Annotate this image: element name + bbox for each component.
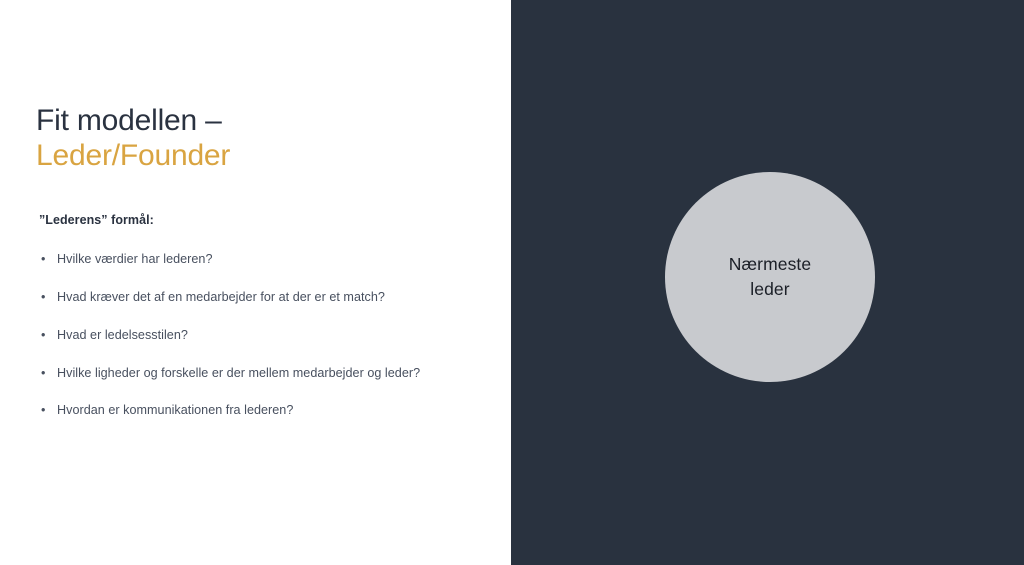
bullet-dot-icon: • — [41, 365, 45, 381]
diagram-circle-label: Nærmeste leder — [729, 252, 811, 303]
bullet-list: • Hvilke værdier har lederen? • Hvad kræ… — [39, 251, 489, 419]
bullet-dot-icon: • — [41, 251, 45, 267]
list-item-label: Hvad er ledelsesstilen? — [57, 328, 188, 342]
list-item: • Hvilke værdier har lederen? — [39, 251, 489, 267]
left-content-panel: Fit modellen – Leder/Founder ”Lederens” … — [0, 0, 511, 565]
list-item: • Hvad kræver det af en medarbejder for … — [39, 289, 489, 305]
bullet-dot-icon: • — [41, 289, 45, 305]
list-item: • Hvad er ledelsesstilen? — [39, 327, 489, 343]
list-item-label: Hvad kræver det af en medarbejder for at… — [57, 290, 385, 304]
section-subheading: ”Lederens” formål: — [39, 213, 489, 227]
title-line-accent: Leder/Founder — [36, 139, 230, 174]
page-title: Fit modellen – Leder/Founder — [36, 104, 230, 174]
slide: Fit modellen – Leder/Founder ”Lederens” … — [0, 0, 1024, 565]
list-item-label: Hvilke ligheder og forskelle er der mell… — [57, 366, 420, 380]
body-content: ”Lederens” formål: • Hvilke værdier har … — [39, 213, 489, 419]
right-diagram-panel: Nærmeste leder — [511, 0, 1024, 565]
bullet-dot-icon: • — [41, 327, 45, 343]
title-line-primary: Fit modellen – — [36, 104, 230, 139]
bullet-dot-icon: • — [41, 402, 45, 418]
list-item: • Hvordan er kommunikationen fra lederen… — [39, 402, 489, 418]
list-item: • Hvilke ligheder og forskelle er der me… — [39, 365, 489, 381]
diagram-circle-naermeste-leder: Nærmeste leder — [665, 172, 875, 382]
list-item-label: Hvilke værdier har lederen? — [57, 252, 213, 266]
list-item-label: Hvordan er kommunikationen fra lederen? — [57, 403, 293, 417]
